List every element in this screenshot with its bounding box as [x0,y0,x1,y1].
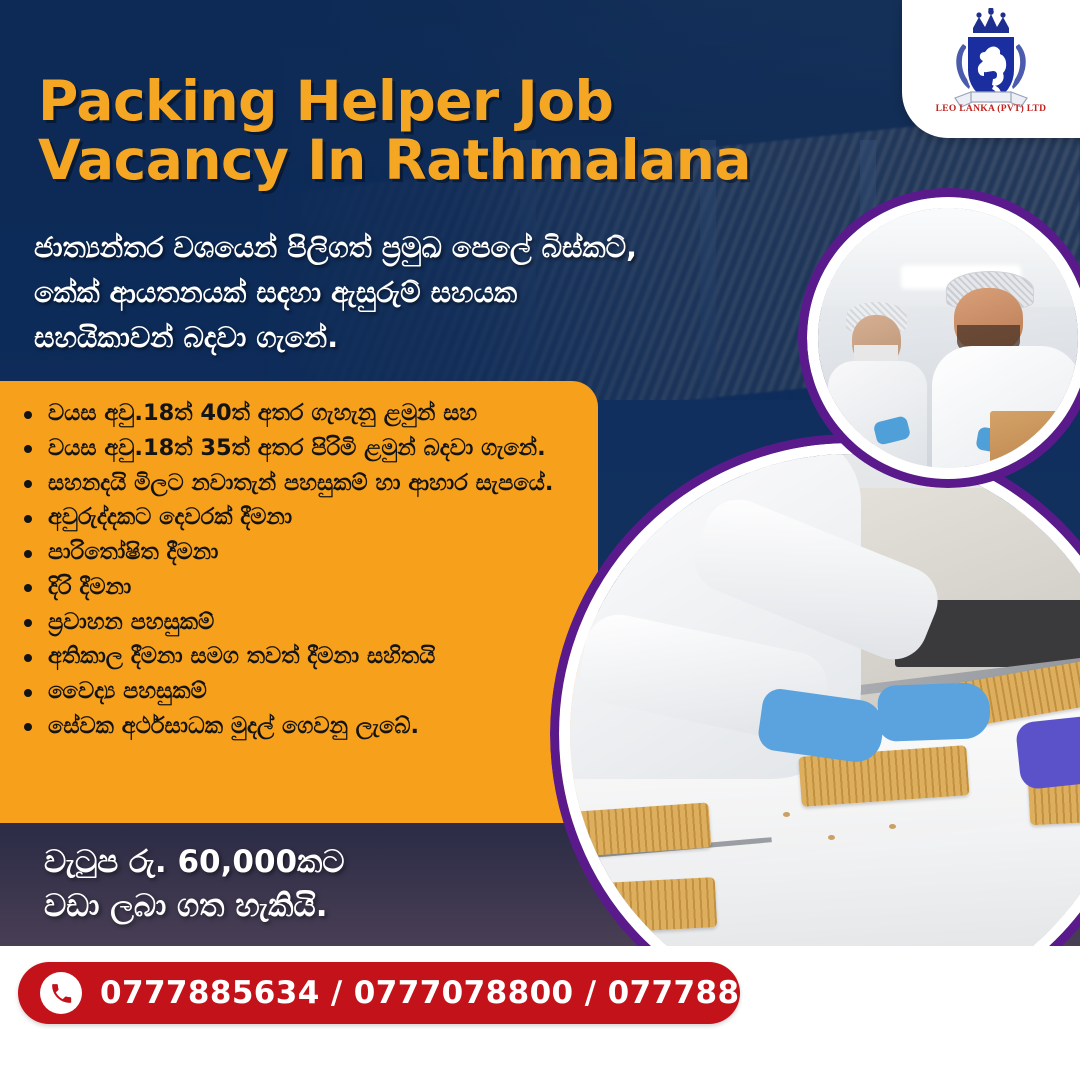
list-item: සහනදයි මිලට නවාතැන් පහසුකම් හා ආහාර සැපය… [22,469,578,498]
requirements-panel: වයස අවු.18ත් 40ත් අතර ගැහැනු ළමුන් සහ වය… [0,381,598,823]
list-item: වයස අවු.18ත් 40ත් අතර ගැහැනු ළමුන් සහ [22,399,578,428]
company-logo: LEO LANKA (PVT) LTD [902,0,1080,138]
list-item: ප්‍රවාහන පහසුකම් [22,608,578,637]
photo-outer-ring [798,188,1080,488]
list-item: අතිකාල දීමනා සමග තවත් දීමනා සහිතයි [22,642,578,671]
subtitle-line-1: ජාත්‍යන්තර වශයෙන් පිලිගත් ප්‍රමුඛ පෙලේ බ… [34,225,824,270]
list-item: සේවක අර්ථසාධක මුදල් ගෙවනු ලැබේ. [22,712,578,741]
phone-icon [40,972,82,1014]
production-line-photo-circle: Gloved workers stacking biscuits on a pr… [550,434,1080,1034]
poster-title: Packing Helper Job Vacancy In Rathmalana [38,72,838,191]
list-item: අවුරුද්දකට දෙවරක් දීමනා [22,503,578,532]
poster-subtitle: ජාත්‍යන්තර වශයෙන් පිලිගත් ප්‍රමුඛ පෙලේ බ… [34,225,824,360]
title-line-2: Vacancy In Rathmalana [38,131,838,190]
subtitle-line-2: කේක් ආයතනයක් සදහා ඇසුරුම් සහයක [34,270,824,315]
workers-photo-circle: Two factory workers in white coats and h… [798,188,1080,488]
subtitle-line-3: සහයිකාවන් බදවා ගැනේ. [34,315,824,360]
poster-root: Blurred biscuit factory conveyor line [0,0,1080,1080]
list-item: දිරි දීමනා [22,573,578,602]
salary-line-1: වැටුප රු. 60,000කට [44,840,345,884]
phone-numbers-bar[interactable]: 0777885634 / 0777078800 / 0777885624 [18,962,740,1024]
company-name-label: LEO LANKA (PVT) LTD [931,104,1051,114]
list-item: පාරිතෝෂිත දීමනා [22,538,578,567]
salary-statement: වැටුප රු. 60,000කට වඩා ලබා ගත හැකියි. [44,840,345,928]
contact-band: 0777885634 / 0777078800 / 0777885624 [0,946,1080,1080]
list-item: වයස අවු.18ත් 35ත් අතර පිරිමි ළමුන් බදවා … [22,434,578,463]
title-line-1: Packing Helper Job [38,72,838,131]
salary-line-2: වඩා ලබා ගත හැකියි. [44,884,345,928]
crest-icon: LEO LANKA (PVT) LTD [931,8,1051,120]
requirements-list: වයස අවු.18ත් 40ත් අතර ගැහැනු ළමුන් සහ වය… [22,399,578,741]
list-item: වෛද්‍ය පහසුකම් [22,677,578,706]
phone-numbers-label: 0777885634 / 0777078800 / 0777885624 [100,975,827,1011]
